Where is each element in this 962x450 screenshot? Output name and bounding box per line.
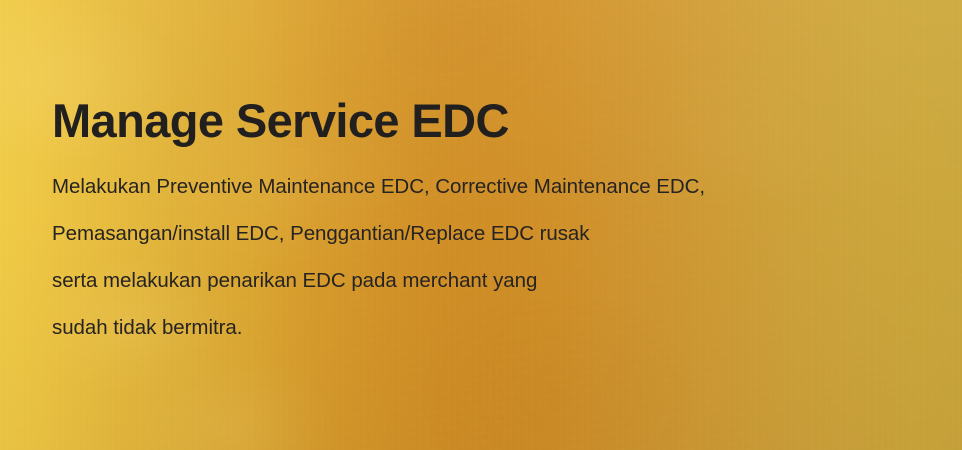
- banner-headline: Manage Service EDC: [52, 96, 928, 146]
- service-banner: Manage Service EDC Melakukan Preventive …: [0, 0, 962, 450]
- description-line: sudah tidak bermitra.: [52, 304, 928, 351]
- banner-content: Manage Service EDC Melakukan Preventive …: [52, 96, 928, 351]
- description-line: serta melakukan penarikan EDC pada merch…: [52, 257, 928, 304]
- description-line: Pemasangan/install EDC, Penggantian/Repl…: [52, 210, 928, 257]
- banner-description: Melakukan Preventive Maintenance EDC, Co…: [52, 163, 928, 351]
- description-line: Melakukan Preventive Maintenance EDC, Co…: [52, 163, 928, 210]
